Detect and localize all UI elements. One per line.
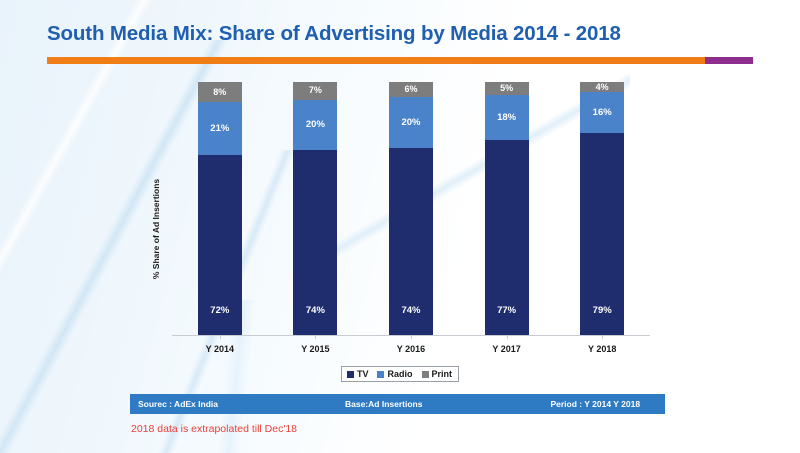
stacked-bar-chart: % Share of Ad Insertions 8% 21% 72% — [150, 82, 650, 382]
bar-segment-radio[interactable]: 20% — [293, 100, 337, 151]
legend-box: TV Radio Print — [341, 366, 459, 382]
legend-label: Radio — [387, 369, 412, 379]
bar-segment-label: 21% — [210, 124, 229, 134]
chart-plot-area: 8% 21% 72% 7% — [172, 82, 650, 336]
legend-item-tv[interactable]: TV — [347, 369, 369, 379]
bar-segment-label: 4% — [596, 83, 609, 92]
title-rule-orange-segment — [47, 57, 705, 64]
bar-stack: 5% 18% 77% — [485, 82, 529, 335]
bar-segment-label: 8% — [213, 88, 226, 97]
bar-segment-radio[interactable]: 21% — [198, 102, 242, 155]
x-axis-label: Y 2015 — [268, 344, 364, 354]
source-footer-bar: Sourec : AdEx India Base:Ad Insertions P… — [130, 394, 665, 414]
x-axis-label: Y 2016 — [363, 344, 459, 354]
bar-segment-label: 20% — [306, 120, 325, 130]
legend-swatch-icon — [422, 371, 429, 378]
bar-segment-print[interactable]: 5% — [485, 82, 529, 95]
bar-segment-label: 18% — [497, 113, 516, 123]
bar-stack: 8% 21% 72% — [198, 82, 242, 335]
bar-segment-print[interactable]: 6% — [389, 82, 433, 97]
period-text: Period : Y 2014 Y 2018 — [550, 399, 640, 409]
legend-label: TV — [357, 369, 369, 379]
x-axis-labels: Y 2014 Y 2015 Y 2016 Y 2017 Y 2018 — [172, 344, 650, 354]
bar-segment-label: 20% — [401, 118, 420, 128]
bar-segment-radio[interactable]: 18% — [485, 95, 529, 141]
slide-canvas: South Media Mix: Share of Advertising by… — [0, 0, 800, 453]
bar-segment-label: 16% — [593, 108, 612, 118]
title-divider-rule — [47, 57, 753, 64]
bar-segment-print[interactable]: 8% — [198, 82, 242, 102]
legend-swatch-icon — [347, 371, 354, 378]
x-axis-label: Y 2014 — [172, 344, 268, 354]
bar-group: 5% 18% 77% — [459, 82, 555, 335]
bar-group: 4% 16% 79% — [554, 82, 650, 335]
bar-stack: 6% 20% 74% — [389, 82, 433, 335]
bar-segment-label: 6% — [404, 85, 417, 94]
bar-segment-label: 77% — [497, 306, 516, 316]
x-axis-label: Y 2018 — [554, 344, 650, 354]
bar-stack: 4% 16% 79% — [580, 82, 624, 335]
bar-group: 8% 21% 72% — [172, 82, 268, 335]
bar-segment-label: 7% — [309, 86, 322, 95]
y-axis-title-text: % Share of Ad Insertions — [151, 179, 161, 279]
bar-segment-label: 79% — [593, 306, 612, 316]
bar-segment-label: 74% — [306, 306, 325, 316]
bar-segment-label: 74% — [401, 306, 420, 316]
bar-segment-label: 72% — [210, 306, 229, 316]
base-text: Base:Ad Insertions — [345, 399, 422, 409]
page-title: South Media Mix: Share of Advertising by… — [47, 22, 621, 46]
bar-group: 6% 20% 74% — [363, 82, 459, 335]
legend-label: Print — [432, 369, 453, 379]
chart-legend: TV Radio Print — [150, 366, 650, 382]
y-axis-title: % Share of Ad Insertions — [148, 144, 164, 314]
bar-segment-print[interactable]: 7% — [293, 82, 337, 100]
bar-segment-radio[interactable]: 20% — [389, 97, 433, 148]
source-text: Sourec : AdEx India — [138, 399, 218, 409]
legend-swatch-icon — [377, 371, 384, 378]
bar-segment-print[interactable]: 4% — [580, 82, 624, 92]
bar-segment-tv[interactable]: 74% — [293, 150, 337, 335]
title-rule-purple-segment — [705, 57, 753, 64]
x-axis-line — [172, 335, 650, 336]
legend-item-radio[interactable]: Radio — [377, 369, 412, 379]
x-axis-label: Y 2017 — [459, 344, 555, 354]
bar-segment-tv[interactable]: 79% — [580, 133, 624, 335]
bar-series-container: 8% 21% 72% 7% — [172, 82, 650, 335]
bar-segment-tv[interactable]: 74% — [389, 148, 433, 335]
bar-segment-radio[interactable]: 16% — [580, 92, 624, 132]
bar-segment-label: 5% — [500, 84, 513, 93]
bar-stack: 7% 20% 74% — [293, 82, 337, 335]
bar-group: 7% 20% 74% — [268, 82, 364, 335]
bar-segment-tv[interactable]: 77% — [485, 140, 529, 335]
footnote-text: 2018 data is extrapolated till Dec'18 — [131, 423, 297, 435]
legend-item-print[interactable]: Print — [422, 369, 453, 379]
bar-segment-tv[interactable]: 72% — [198, 155, 242, 335]
